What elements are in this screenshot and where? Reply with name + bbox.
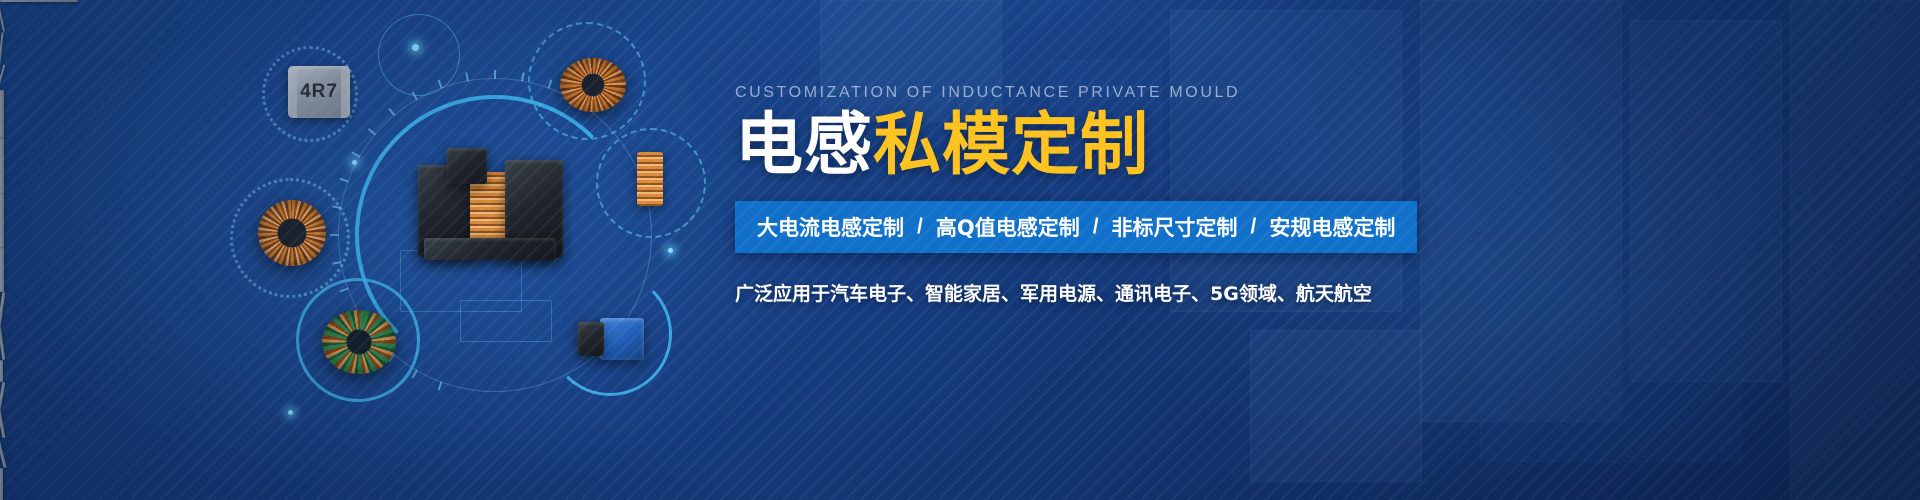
flat-toroidal-inductor (258, 200, 326, 266)
component-lead (0, 468, 3, 500)
banner-eyebrow: CUSTOMIZATION OF INDUCTANCE PRIVATE MOUL… (735, 84, 1855, 102)
glow-dot (668, 248, 673, 253)
headline-yellow-text: 私模定制 (873, 106, 1149, 185)
smd-inductor-4r7: 4R7 (288, 66, 350, 118)
blue-radial-inductor (600, 318, 644, 360)
service-item-2: 非标尺寸定制 (1112, 212, 1238, 242)
component-lead (0, 64, 6, 90)
glow-dot (288, 410, 293, 415)
component-lead (0, 2, 5, 32)
component-lead (0, 194, 4, 248)
smd-part-label: 4R7 (300, 81, 338, 103)
component-lead (0, 326, 5, 360)
component-lead (0, 0, 78, 2)
service-separator: / (1080, 215, 1112, 239)
pcb-trace (460, 300, 552, 342)
glow-dot (352, 160, 357, 165)
component-lead (0, 360, 3, 382)
component-lead (0, 32, 4, 64)
component-lead (0, 248, 4, 292)
service-separator: / (1238, 215, 1270, 239)
banner-content: CUSTOMIZATION OF INDUCTANCE PRIVATE MOUL… (735, 84, 1855, 306)
promo-banner: 4R7 (0, 0, 1920, 500)
toroidal-inductor-top (560, 58, 626, 112)
service-item-3: 安规电感定制 (1269, 212, 1395, 242)
services-bar: 大电流电感定制 / 高Q值电感定制 / 非标尺寸定制 / 安规电感定制 (735, 201, 1417, 253)
component-lead (0, 138, 4, 194)
inductor-product-graphics: 4R7 (0, 0, 760, 500)
banner-headline: 电感私模定制 (735, 110, 1855, 181)
component-lead (0, 410, 5, 438)
component-lead (0, 292, 5, 326)
green-toroidal-inductor (322, 310, 396, 374)
banner-subtext: 广泛应用于汽车电子、智能家居、军用电源、通讯电子、5G领域、航天航空 (735, 279, 1855, 306)
component-lead (0, 438, 7, 468)
component-lead (0, 90, 4, 138)
service-item-1: 高Q值电感定制 (936, 212, 1080, 242)
service-item-0: 大电流电感定制 (757, 212, 904, 242)
headline-white-text: 电感 (735, 106, 873, 185)
service-separator: / (904, 215, 936, 239)
decorative-ring-small-top (378, 14, 460, 96)
choke-base (424, 238, 556, 260)
component-lead (0, 382, 5, 410)
blue-inductor-body (578, 322, 604, 356)
rod-inductor-coil (637, 152, 663, 206)
choke-core-top (447, 148, 487, 184)
glow-dot (412, 44, 419, 51)
